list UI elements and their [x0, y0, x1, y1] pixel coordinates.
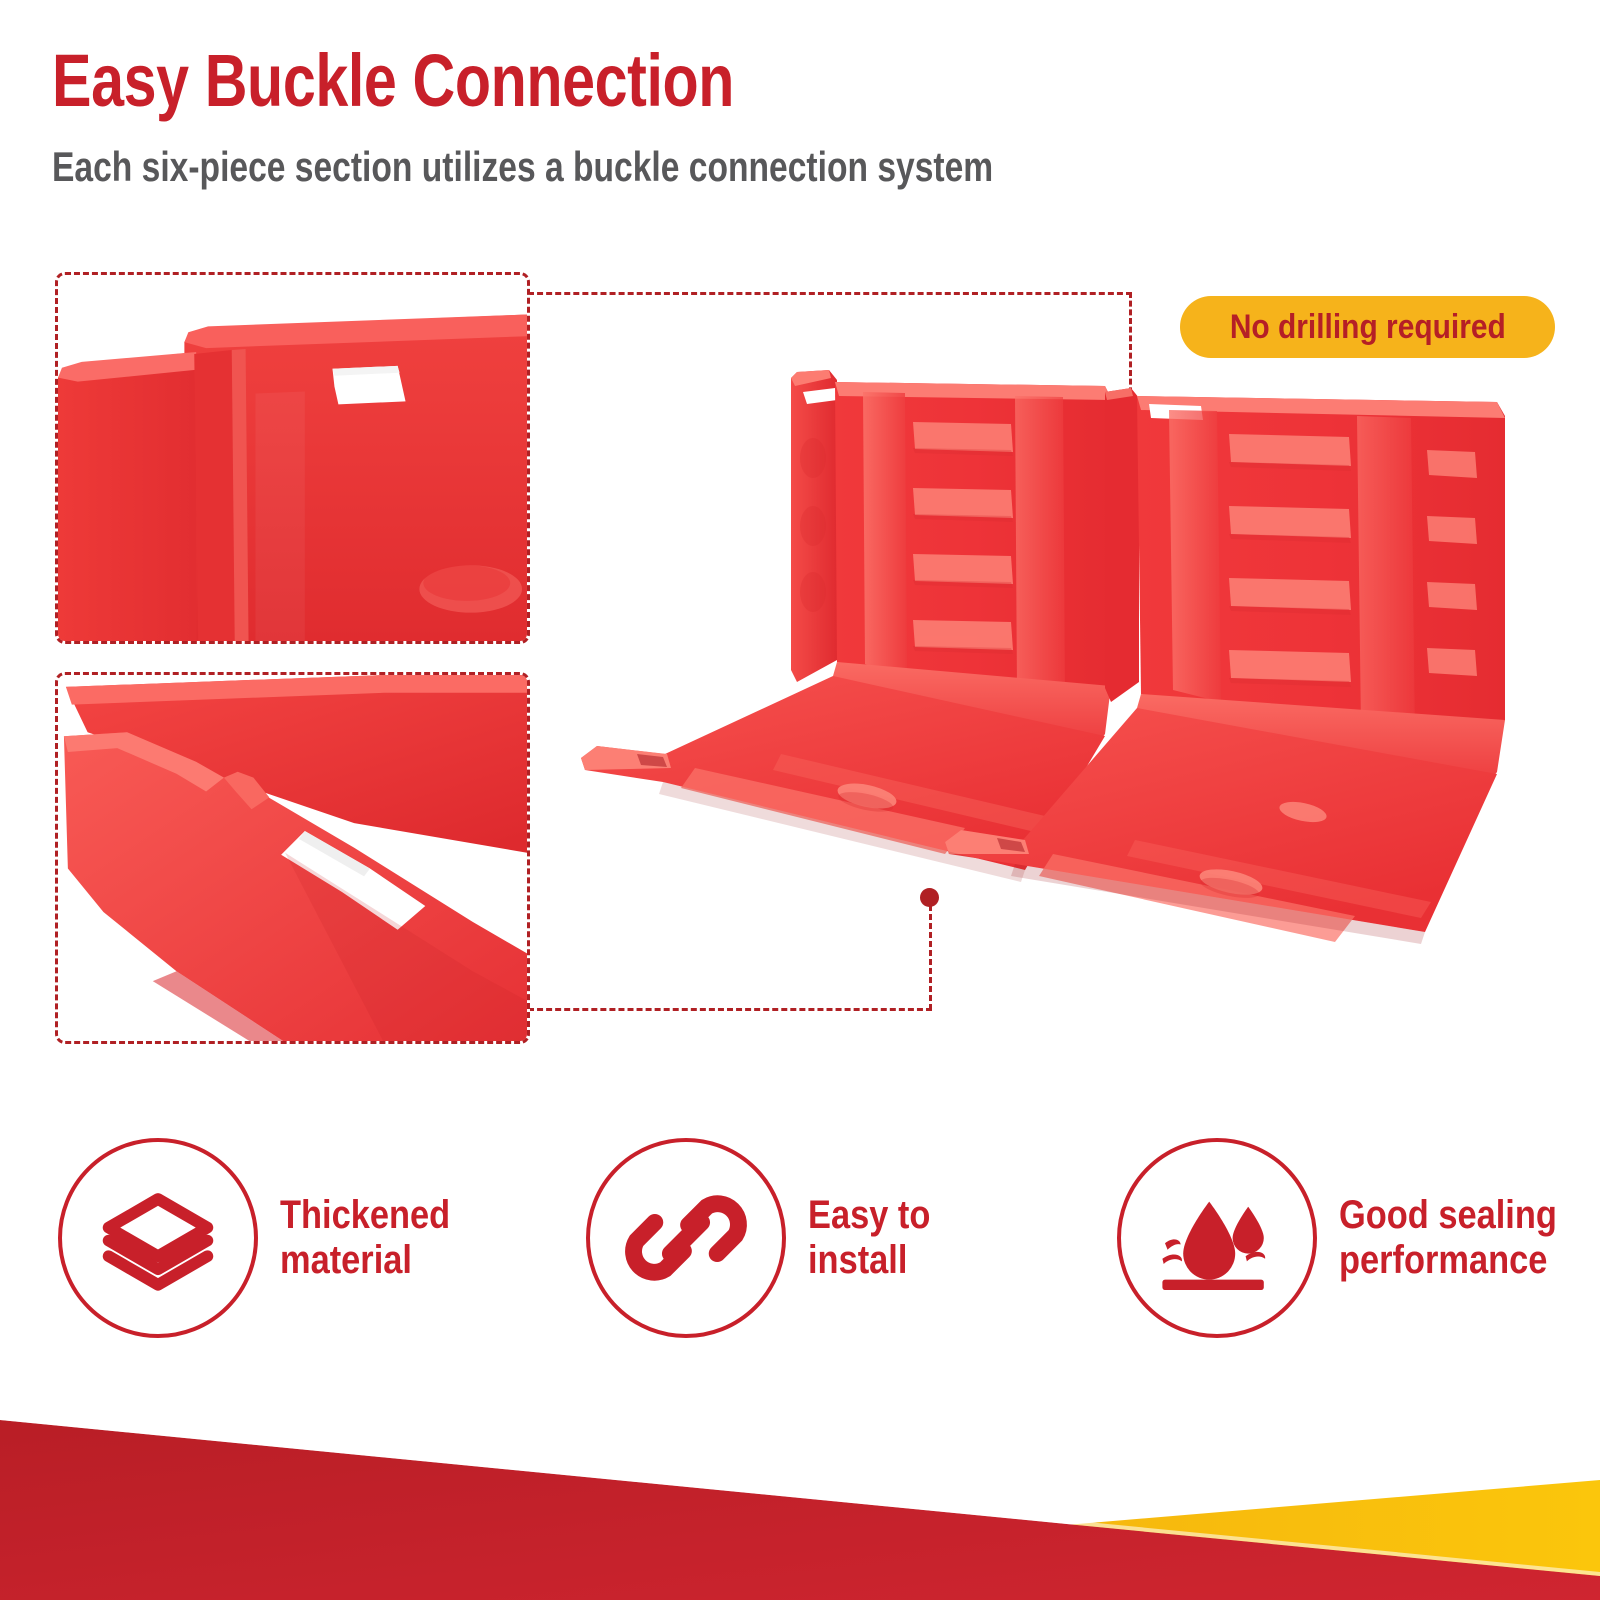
- feature-thickened-material: Thickened material: [0, 1130, 541, 1345]
- connector-line-top-horizontal: [528, 292, 1132, 295]
- flood-barrier-panels-illustration: [545, 330, 1575, 1030]
- feature-label-1: Thickened material: [280, 1193, 450, 1283]
- product-image: [545, 330, 1575, 1030]
- bottom-banner: [0, 1380, 1600, 1600]
- layers-icon: [93, 1173, 223, 1303]
- feature-row: Thickened material Easy to instal: [0, 1130, 1600, 1345]
- infographic-page: Easy Buckle Connection Each six-piece se…: [0, 0, 1600, 1600]
- header: Easy Buckle Connection Each six-piece se…: [52, 44, 1552, 188]
- water-drop-icon: [1152, 1173, 1282, 1303]
- chain-link-icon: [621, 1173, 751, 1303]
- feature-easy-to-install: Easy to install: [541, 1130, 1069, 1345]
- feature-icon-circle-1: [58, 1138, 258, 1338]
- buckle-tab-photo: [58, 675, 527, 1042]
- callout-buckle-slot: [55, 272, 530, 644]
- feature-icon-circle-3: [1117, 1138, 1317, 1338]
- callout-buckle-tab: [55, 672, 530, 1044]
- banner-shapes: [0, 1380, 1600, 1600]
- feature-label-3: Good sealing performance: [1339, 1193, 1557, 1283]
- page-title: Easy Buckle Connection: [52, 44, 1252, 118]
- buckle-slot-photo: [58, 275, 527, 642]
- feature-good-sealing: Good sealing performance: [1069, 1130, 1600, 1345]
- page-subtitle: Each six-piece section utilizes a buckle…: [52, 146, 1252, 188]
- feature-icon-circle-2: [586, 1138, 786, 1338]
- feature-label-2: Easy to install: [808, 1193, 930, 1283]
